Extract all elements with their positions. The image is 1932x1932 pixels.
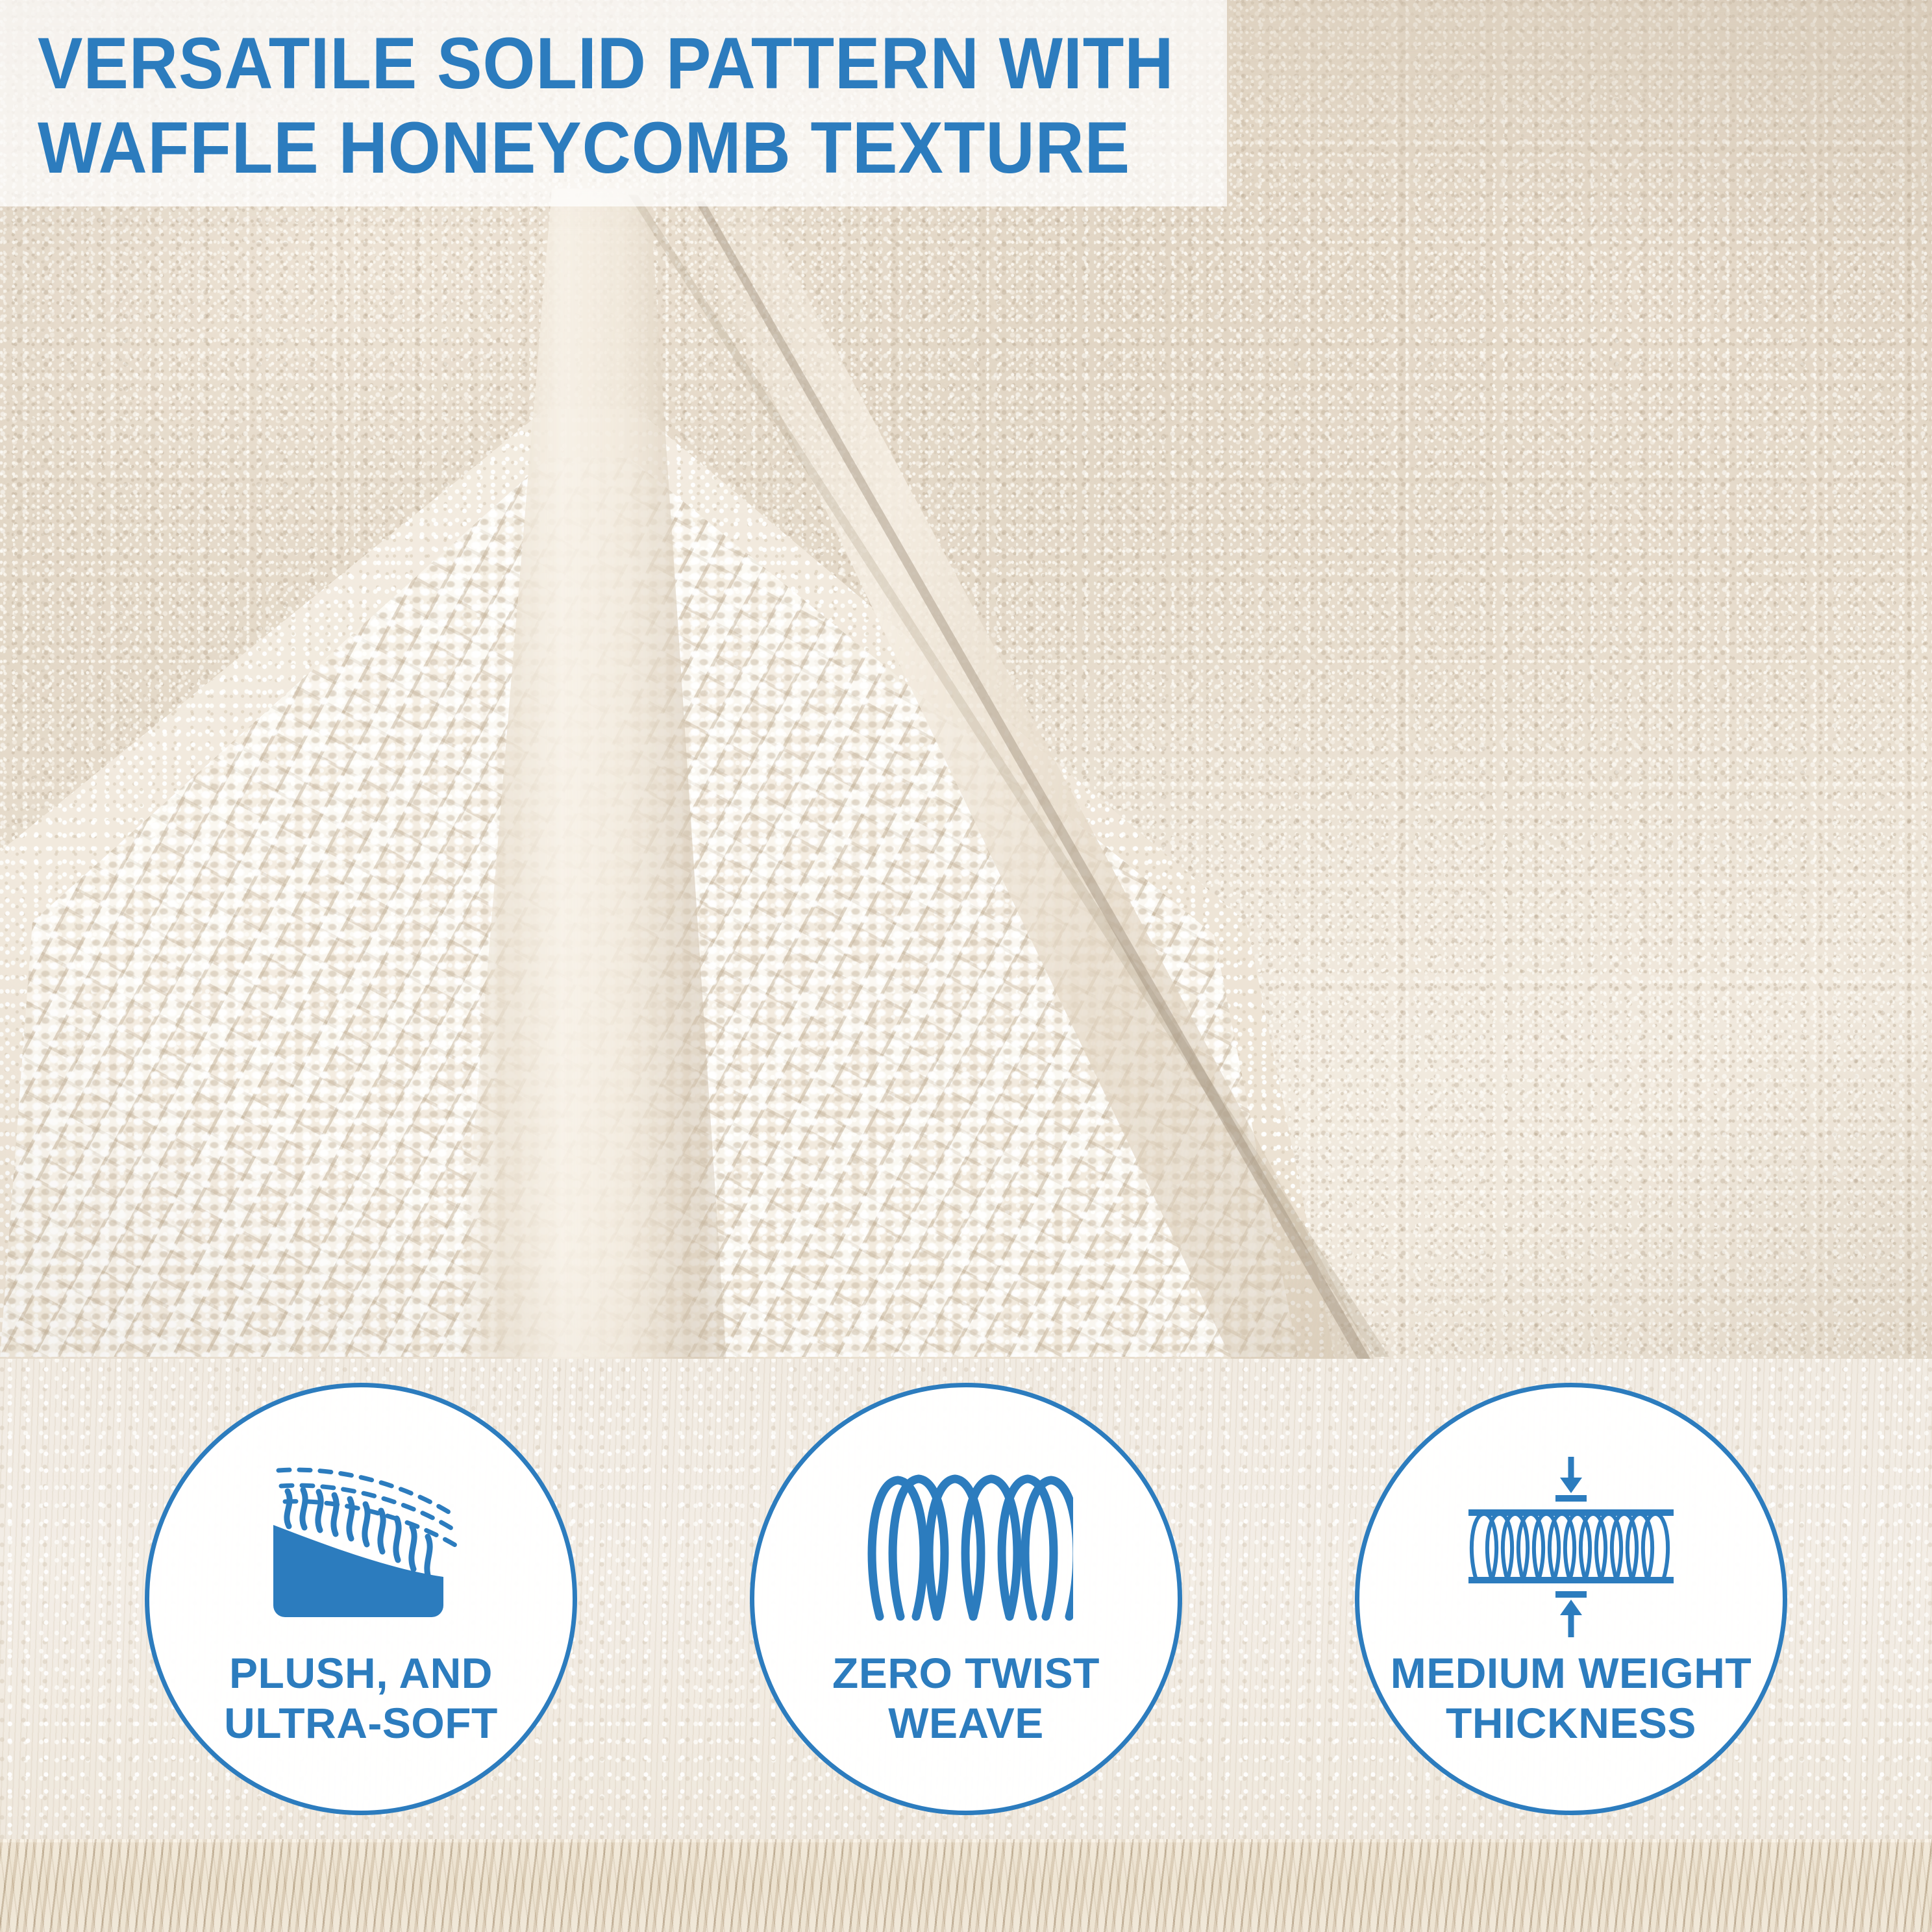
feature-badge-strip: PLUSH, AND ULTRA-SOFT bbox=[0, 1359, 1932, 1839]
headline-line-1: VERSATILE SOLID PATTERN WITH bbox=[38, 21, 1144, 106]
badge-label-thickness: MEDIUM WEIGHT THICKNESS bbox=[1391, 1648, 1752, 1748]
zero-twist-yarn-loops-icon bbox=[859, 1450, 1073, 1644]
band-weave-texture bbox=[0, 1839, 1932, 1932]
header-banner: VERSATILE SOLID PATTERN WITH WAFFLE HONE… bbox=[0, 0, 1227, 206]
feature-badge-list: PLUSH, AND ULTRA-SOFT bbox=[0, 1359, 1932, 1839]
badge-label-zero-twist: ZERO TWIST WEAVE bbox=[832, 1648, 1100, 1748]
bottom-fabric-band bbox=[0, 1839, 1932, 1932]
badge-label-plush: PLUSH, AND ULTRA-SOFT bbox=[224, 1648, 498, 1748]
product-feature-image: VERSATILE SOLID PATTERN WITH WAFFLE HONE… bbox=[0, 0, 1932, 1932]
headline-line-2: WAFFLE HONEYCOMB TEXTURE bbox=[38, 106, 1144, 190]
feature-badge-zero-twist[interactable]: ZERO TWIST WEAVE bbox=[750, 1383, 1182, 1815]
plush-towel-fibers-icon bbox=[254, 1450, 468, 1644]
feature-badge-plush[interactable]: PLUSH, AND ULTRA-SOFT bbox=[145, 1383, 577, 1815]
thickness-arrows-icon bbox=[1454, 1450, 1688, 1644]
feature-badge-thickness[interactable]: MEDIUM WEIGHT THICKNESS bbox=[1355, 1383, 1787, 1815]
